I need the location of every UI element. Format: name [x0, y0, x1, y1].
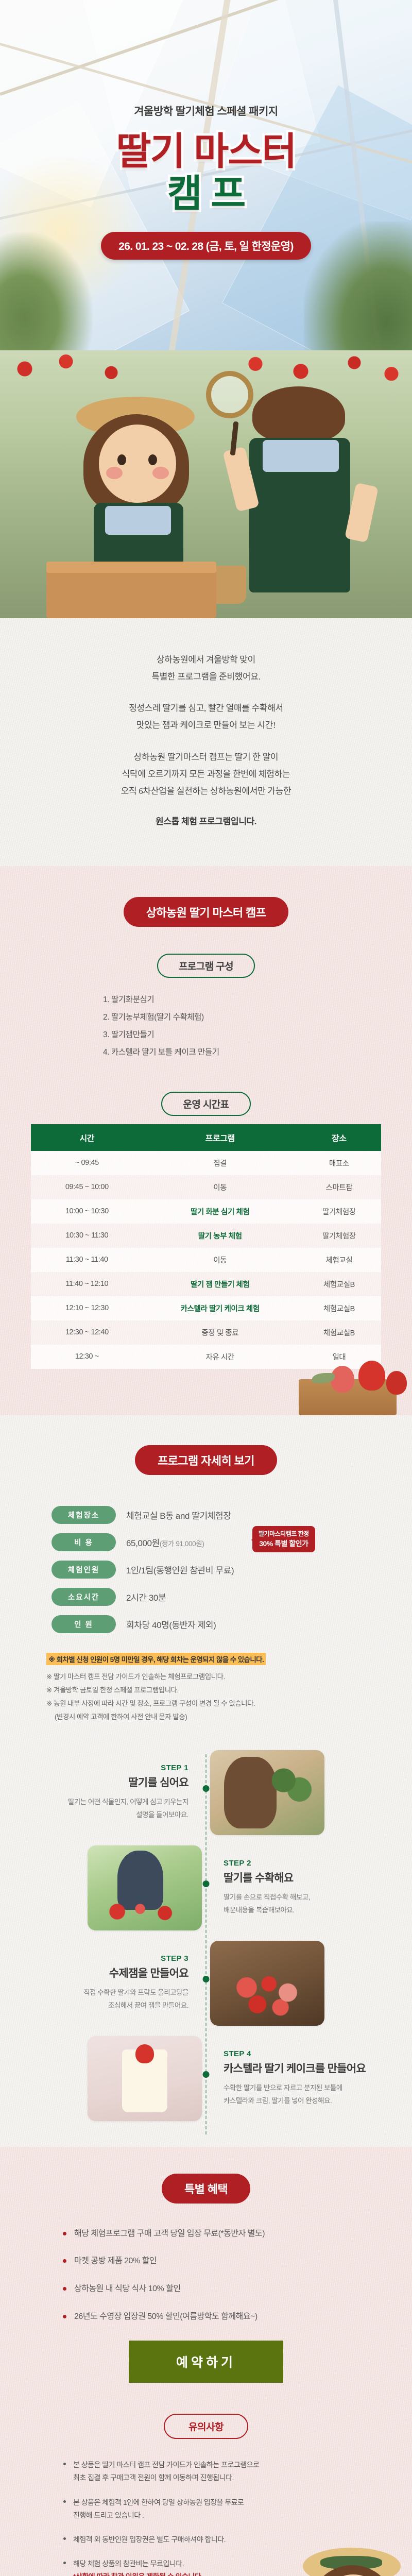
step-desc-line2: 설명을 들어보아요. [136, 1811, 188, 1819]
benefits-list: 해당 체험프로그램 구매 고객 당일 입장 무료(*동반자 별도) 마켓 공방 … [62, 2227, 350, 2323]
detail-label: 체험인원 [51, 1561, 116, 1579]
schedule-col-place: 장소 [297, 1124, 381, 1151]
step-description: 딸기를 손으로 직접수확 해보고, 배운내용을 복습해보아요. [224, 1891, 369, 1917]
cell-program: 집결 [143, 1151, 297, 1175]
step-title: 딸기를 수확해요 [224, 1870, 369, 1885]
note-highlight: ※ 회차별 신청 인원이 5명 미만일 경우, 해당 회차는 운영되지 않을 수… [46, 1653, 266, 1665]
cell-place: 체험교실B [297, 1296, 381, 1320]
intro-p1-line1: 상하농원에서 겨울방학 맞이 [157, 655, 255, 665]
timeline-dot-icon [203, 1785, 210, 1792]
cell-program: 딸기 잼 만들기 체험 [143, 1272, 297, 1296]
step-title: 카스텔라 딸기 케이크를 만들어요 [224, 2060, 369, 2076]
details-rows: 체험장소 체험교실 B동 and 딸기체험장 비 용 65,000원(정가 91… [51, 1506, 360, 1633]
detail-value: 2시간 30분 [126, 1590, 166, 1603]
magnifying-glass-icon [206, 371, 253, 418]
program-composition-heading: 프로그램 구성 [157, 954, 255, 978]
intro-p2-line2: 맛있는 잼과 케이크로 만들어 보는 시간! [136, 720, 276, 730]
schedule-heading: 운영 시간표 [161, 1092, 250, 1116]
step-1: STEP 1 딸기를 심어요 딸기는 어떤 식물인지, 어떻게 심고 키우는지 … [26, 1745, 386, 1840]
table-row: 12:10 ~ 12:30 카스텔라 딸기 케이크 체험 체험교실B [31, 1296, 381, 1320]
notice-item: 체험객 외 동반인원 입장권은 별도 구매하셔야 합니다. [62, 2533, 350, 2546]
timeline-dot-icon [203, 2071, 210, 2078]
detail-label: 소요시간 [51, 1588, 116, 1606]
detail-row-price: 비 용 65,000원(정가 91,000원) 딸기마스터캠프 한정 30% 특… [51, 1533, 360, 1551]
program-composition-list: 1. 딸기화분심기 2. 딸기농부체험(딸기 수확체험) 3. 딸기잼만들기 4… [103, 991, 309, 1061]
intro-p1-line2: 특별한 프로그램을 준비했어요. [151, 672, 260, 682]
intro-paragraph-1: 상하농원에서 겨울방학 맞이 특별한 프로그램을 준비했어요. [0, 651, 412, 685]
landing-page: 겨울방학 딸기체험 스페셜 패키지 딸기 마스터 캠 프 26. 01. 23 … [0, 0, 412, 2576]
cell-time: 12:30 ~ [31, 1345, 143, 1369]
detail-value: 체험교실 B동 and 딸기체험장 [126, 1509, 231, 1521]
step-title: 딸기를 심어요 [43, 1774, 188, 1790]
note-line: ※ 딸기 마스터 캠프 전담 가이드가 인솔하는 체험프로그램입니다. [46, 1670, 366, 1684]
notice-item: 본 상품은 체험객 1인에 한하여 당일 상하농원 입장을 무료로 진행해 드리… [62, 2496, 350, 2522]
schedule-col-program: 프로그램 [143, 1124, 297, 1151]
cell-time: 10:00 ~ 10:30 [31, 1199, 143, 1224]
step-desc-line1: 딸기는 어떤 식물인지, 어떻게 심고 키우는지 [68, 1798, 188, 1806]
step-number: STEP 4 [224, 2049, 369, 2058]
note-line: ※ 겨울방학 금토일 한정 스페셜 프로그램입니다. [46, 1684, 366, 1697]
strawberry-icon [386, 1371, 407, 1395]
cell-time: 12:10 ~ 12:30 [31, 1296, 143, 1320]
detail-row-participants: 체험인원 1인/1팀(동행인원 참관비 무료) [51, 1561, 360, 1579]
benefit-item: 상하농원 내 식당 식사 10% 할인 [62, 2282, 350, 2296]
wooden-table [46, 562, 216, 618]
step-desc-line2: 조심해서 끓여 잼을 만들어요. [108, 2002, 188, 2009]
intro-section: 상하농원에서 겨울방학 맞이 특별한 프로그램을 준비했어요. 정성스레 딸기를… [0, 618, 412, 866]
cell-place: 체험교실B [297, 1320, 381, 1345]
detail-row-place: 체험장소 체험교실 B동 and 딸기체험장 [51, 1506, 360, 1524]
notice-line1: 해당 체험 상품의 참관비는 무료입니다. [73, 2560, 184, 2568]
table-row: 11:40 ~ 12:10 딸기 잼 만들기 체험 체험교실B [31, 1272, 381, 1296]
hero-photo-children [0, 350, 412, 618]
program-item: 1. 딸기화분심기 [103, 991, 309, 1009]
notice-item: 본 상품은 딸기 마스터 캠프 전담 가이드가 인솔하는 프로그램으로 최초 집… [62, 2459, 350, 2484]
intro-paragraph-3: 상하농원 딸기마스터 캠프는 딸기 한 알이 식탁에 오르기까지 모든 과정을 … [0, 749, 412, 831]
cell-program: 딸기 농부 체험 [143, 1224, 297, 1248]
cell-time: 11:30 ~ 11:40 [31, 1248, 143, 1272]
cell-program: 증정 및 종료 [143, 1320, 297, 1345]
notice-line1: 본 상품은 체험객 1인에 한하여 당일 상하농원 입장을 무료로 [73, 2498, 244, 2506]
hero-kicker: 겨울방학 딸기체험 스페셜 패키지 [0, 103, 412, 118]
table-row: 12:30 ~ 자유 시간 일대 [31, 1345, 381, 1369]
schedule-table-wrapper: 시간 프로그램 장소 ~ 09:45 집결 매표소 09:45 ~ 10:00 … [31, 1124, 381, 1369]
detail-value: 1인/1팀(동행인원 참관비 무료) [126, 1563, 234, 1576]
notice-item: 해당 체험 상품의 참관비는 무료입니다. *상황에 따라 참관 인원은 제한될… [62, 2557, 350, 2576]
timeline-dot-icon [203, 1880, 210, 1887]
schedule-table: 시간 프로그램 장소 ~ 09:45 집결 매표소 09:45 ~ 10:00 … [31, 1124, 381, 1369]
step-text: STEP 4 카스텔라 딸기 케이크를 만들어요 수확한 딸기를 반으로 자르고… [206, 2049, 386, 2107]
step-title: 수제잼을 만들어요 [43, 1965, 188, 1980]
step-2: STEP 2 딸기를 수확해요 딸기를 손으로 직접수확 해보고, 배운내용을 … [26, 1840, 386, 1936]
step-number: STEP 3 [43, 1954, 188, 1963]
notice-red-warning: *상황에 따라 참관 인원은 제한될 수 있습니다. [73, 2570, 350, 2576]
detail-price-original: (정가 91,000원) [160, 1540, 204, 1548]
benefits-section: 특별 혜택 해당 체험프로그램 구매 고객 당일 입장 무료(*동반자 별도) … [0, 2147, 412, 2576]
notice-line1: 본 상품은 딸기 마스터 캠프 전담 가이드가 인솔하는 프로그램으로 [73, 2461, 259, 2469]
strawberry-icon [331, 1366, 354, 1393]
intro-p3-line2: 식탁에 오르기까지 모든 과정을 한번에 체험하는 [122, 769, 290, 779]
detail-label: 체험장소 [51, 1506, 116, 1524]
cell-program: 딸기 화분 심기 체험 [143, 1199, 297, 1224]
step-number: STEP 1 [43, 1764, 188, 1772]
cell-place: 딸기체험장 [297, 1199, 381, 1224]
benefit-item: 26년도 수영장 입장권 50% 할인(여름방학도 함께해요~) [62, 2310, 350, 2324]
discount-badge-line1: 딸기마스터캠프 한정 [259, 1530, 309, 1537]
step-photo-cake [88, 2036, 202, 2121]
schedule-header-row: 시간 프로그램 장소 [31, 1124, 381, 1151]
detail-value: 65,000원(정가 91,000원) [126, 1536, 204, 1549]
table-row: 12:30 ~ 12:40 증정 및 종료 체험교실B [31, 1320, 381, 1345]
cell-program: 이동 [143, 1248, 297, 1272]
detail-row-duration: 소요시간 2시간 30분 [51, 1588, 360, 1606]
step-image-wrap [26, 1845, 206, 1930]
notice-line2: 진행해 드리고 있습니다 . [73, 2511, 144, 2519]
steps-timeline: STEP 1 딸기를 심어요 딸기는 어떤 식물인지, 어떻게 심고 키우는지 … [26, 1745, 386, 2147]
cell-time: 09:45 ~ 10:00 [31, 1175, 143, 1199]
table-row: 09:45 ~ 10:00 이동 스마트팜 [31, 1175, 381, 1199]
table-row: 10:00 ~ 10:30 딸기 화분 심기 체험 딸기체험장 [31, 1199, 381, 1224]
intro-p3-line1: 상하농원 딸기마스터 캠프는 딸기 한 알이 [134, 752, 279, 762]
benefit-item: 마켓 공방 제품 20% 할인 [62, 2255, 350, 2268]
detail-row-capacity: 인 원 회차당 40명(동반자 제외) [51, 1615, 360, 1633]
hero-date-badge: 26. 01. 23 ~ 02. 28 (금, 토, 일 한정운영) [101, 232, 311, 260]
benefit-item: 해당 체험프로그램 구매 고객 당일 입장 무료(*동반자 별도) [62, 2227, 350, 2241]
details-notes: ※ 회차별 신청 인원이 5명 미만일 경우, 해당 회차는 운영되지 않을 수… [46, 1653, 366, 1724]
discount-badge: 딸기마스터캠프 한정 30% 특별 할인가 [252, 1526, 315, 1553]
step-text: STEP 1 딸기를 심어요 딸기는 어떤 식물인지, 어떻게 심고 키우는지 … [26, 1764, 206, 1821]
step-description: 직접 수확한 딸기와 프락토 올리고당을 조심해서 끓여 잼을 만들어요. [43, 1987, 188, 2012]
step-4: STEP 4 카스텔라 딸기 케이크를 만들어요 수확한 딸기를 반으로 자르고… [26, 2031, 386, 2126]
hero-title-line2: 캠 프 [0, 173, 412, 214]
details-section: 프로그램 자세히 보기 체험장소 체험교실 B동 and 딸기체험장 비 용 6… [0, 1415, 412, 2147]
cell-place: 딸기체험장 [297, 1224, 381, 1248]
cell-program: 자유 시간 [143, 1345, 297, 1369]
cell-time: ~ 09:45 [31, 1151, 143, 1175]
schedule-col-time: 시간 [31, 1124, 143, 1151]
hero-title-line1: 딸기 마스터 [0, 131, 412, 172]
benefits-ribbon-title: 특별 혜택 [162, 2174, 250, 2204]
cell-place: 체험교실B [297, 1272, 381, 1296]
cell-program: 이동 [143, 1175, 297, 1199]
cell-place: 체험교실 [297, 1248, 381, 1272]
cell-program: 카스텔라 딸기 케이크 체험 [143, 1296, 297, 1320]
step-photo-harvest [88, 1845, 202, 1930]
strawberry-icon [358, 1361, 385, 1391]
step-image-wrap [206, 1941, 386, 2026]
hero-banner: 겨울방학 딸기체험 스페셜 패키지 딸기 마스터 캠 프 26. 01. 23 … [0, 0, 412, 350]
program-item: 2. 딸기농부체험(딸기 수확체험) [103, 1009, 309, 1026]
table-row: ~ 09:45 집결 매표소 [31, 1151, 381, 1175]
cell-place: 매표소 [297, 1151, 381, 1175]
table-row: 10:30 ~ 11:30 딸기 농부 체험 딸기체험장 [31, 1224, 381, 1248]
program-item: 3. 딸기잼만들기 [103, 1026, 309, 1044]
note-line: (변경시 예약 고객에 한하여 사전 안내 문자 발송) [46, 1710, 366, 1724]
detail-value: 회차당 40명(동반자 제외) [126, 1618, 216, 1631]
cell-time: 11:40 ~ 12:10 [31, 1272, 143, 1296]
step-photo-jam [210, 1941, 324, 2026]
program-section: 상하농원 딸기 마스터 캠프 프로그램 구성 1. 딸기화분심기 2. 딸기농부… [0, 866, 412, 1415]
program-item: 4. 카스텔라 딸기 보틀 케이크 만들기 [103, 1044, 309, 1061]
reserve-button[interactable]: 예약하기 [129, 2341, 283, 2383]
step-description: 수확한 딸기를 반으로 자르고 분지된 보틀에 카스텔라와 크림, 딸기를 넣어… [224, 2082, 369, 2107]
discount-badge-line2: 30% 특별 할인가 [259, 1538, 309, 1549]
detail-price: 65,000원 [126, 1538, 160, 1548]
step-text: STEP 3 수제잼을 만들어요 직접 수확한 딸기와 프락토 올리고당을 조심… [26, 1954, 206, 2012]
step-description: 딸기는 어떤 식물인지, 어떻게 심고 키우는지 설명을 들어보아요. [43, 1796, 188, 1821]
intro-emphasis: 원스톱 체험 프로그램입니다. [0, 813, 412, 830]
note-line: ※ 농원 내부 사정에 따라 시간 및 장소, 프로그램 구성이 변경 될 수 … [46, 1697, 366, 1710]
strawberry-crate-decoration [0, 1369, 412, 1415]
detail-label: 인 원 [51, 1615, 116, 1633]
intro-p3-line3: 오직 6차산업을 실천하는 상하농원에서만 가능한 [121, 786, 291, 796]
intro-p2-line1: 정성스레 딸기를 심고, 빨간 열매를 수확해서 [129, 703, 283, 713]
step-image-wrap [26, 2036, 206, 2121]
step-desc-line1: 수확한 딸기를 반으로 자르고 분지된 보틀에 [224, 2084, 342, 2092]
notice-list: 본 상품은 딸기 마스터 캠프 전담 가이드가 인솔하는 프로그램으로 최초 집… [62, 2459, 350, 2576]
detail-label: 비 용 [51, 1533, 116, 1551]
step-text: STEP 2 딸기를 수확해요 딸기를 손으로 직접수확 해보고, 배운내용을 … [206, 1859, 386, 1917]
step-number: STEP 2 [224, 1859, 369, 1868]
cell-place: 스마트팜 [297, 1175, 381, 1199]
step-image-wrap [206, 1750, 386, 1835]
step-photo-planting [210, 1750, 324, 1835]
intro-paragraph-2: 정성스레 딸기를 심고, 빨간 열매를 수확해서 맛있는 잼과 케이크로 만들어… [0, 700, 412, 734]
step-desc-line1: 직접 수확한 딸기와 프락토 올리고당을 [83, 1989, 188, 1996]
table-row: 11:30 ~ 11:40 이동 체험교실 [31, 1248, 381, 1272]
step-desc-line1: 딸기를 손으로 직접수확 해보고, [224, 1893, 310, 1901]
step-desc-line2: 배운내용을 복습해보아요. [224, 1906, 295, 1914]
timeline-dot-icon [203, 1976, 210, 1982]
cell-time: 12:30 ~ 12:40 [31, 1320, 143, 1345]
notice-line1: 체험객 외 동반인원 입장권은 별도 구매하셔야 합니다. [73, 2535, 226, 2544]
cell-time: 10:30 ~ 11:30 [31, 1224, 143, 1248]
step-3: STEP 3 수제잼을 만들어요 직접 수확한 딸기와 프락토 올리고당을 조심… [26, 1936, 386, 2031]
notice-line2: 최초 집결 후 구매고객 전원이 함께 이동하며 진행됩니다. [73, 2473, 234, 2482]
details-ribbon-title: 프로그램 자세히 보기 [135, 1445, 277, 1475]
step-desc-line2: 카스텔라와 크림, 딸기를 넣어 완성해요. [224, 2097, 332, 2105]
notice-heading: 유의사항 [164, 2414, 248, 2439]
schedule-body: ~ 09:45 집결 매표소 09:45 ~ 10:00 이동 스마트팜 10:… [31, 1151, 381, 1369]
camp-ribbon-title: 상하농원 딸기 마스터 캠프 [124, 897, 289, 927]
